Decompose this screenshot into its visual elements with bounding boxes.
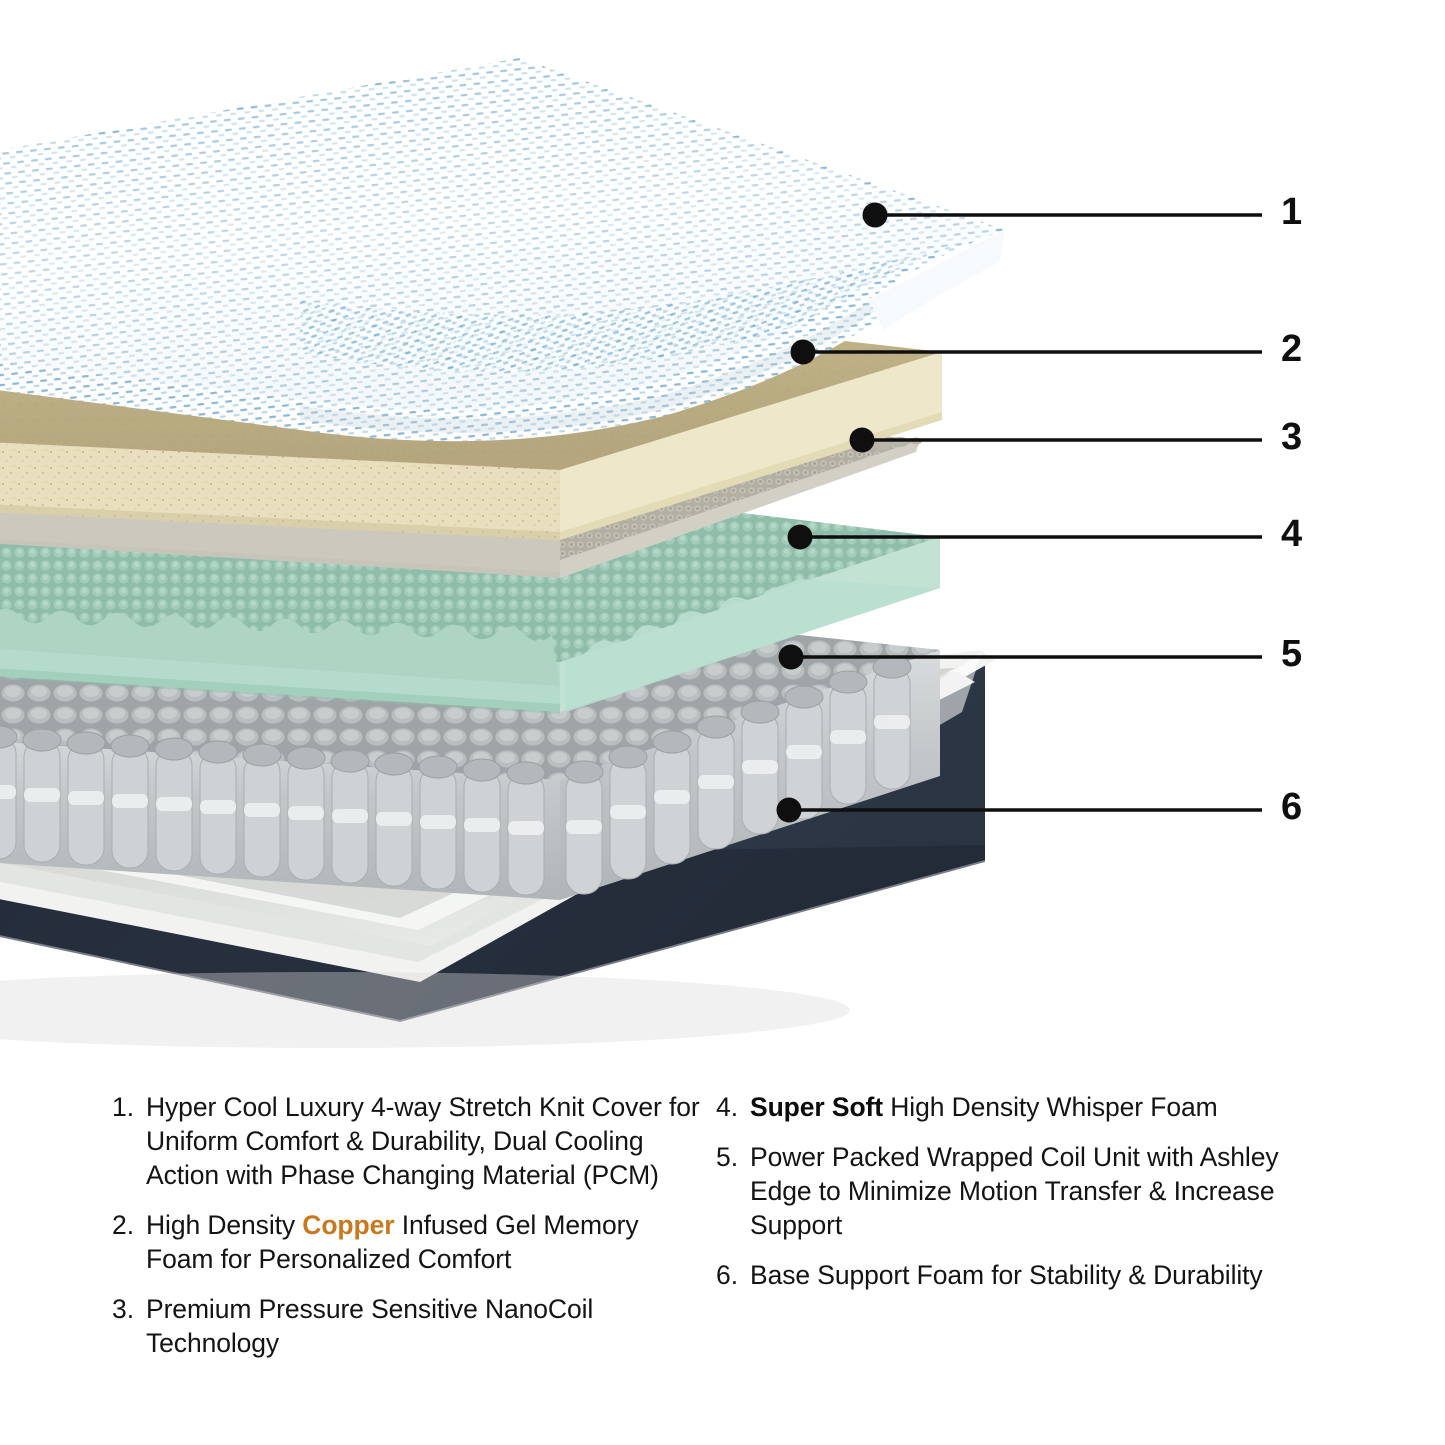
callout-number-3: 3 — [1281, 418, 1302, 456]
legend-text-5: Power Packed Wrapped Coil Unit with Ashl… — [750, 1140, 1336, 1242]
legend-text-5-segment-0: Power Packed Wrapped Coil Unit with Ashl… — [750, 1142, 1279, 1240]
legend-number-4: 4. — [716, 1090, 750, 1124]
legend-text-6: Base Support Foam for Stability & Durabi… — [750, 1258, 1336, 1292]
callout-number-6: 6 — [1281, 788, 1302, 826]
legend-text-1-segment-0: Hyper Cool Luxury 4-way Stretch Knit Cov… — [146, 1092, 700, 1190]
legend-text-4: Super Soft High Density Whisper Foam — [750, 1090, 1336, 1124]
legend-item-4: 4. Super Soft High Density Whisper Foam — [716, 1090, 1336, 1124]
legend-number-2: 2. — [112, 1208, 146, 1242]
legend-text-4-bold-emphasis: Super Soft — [750, 1092, 883, 1122]
mattress-layer-diagram: 1 2 3 4 5 6 1. Hyper Cool Luxury 4-way S… — [0, 0, 1445, 1445]
callout-number-5: 5 — [1281, 635, 1302, 673]
legend-item-2: 2. High Density Copper Infused Gel Memor… — [112, 1208, 712, 1276]
legend-number-3: 3. — [112, 1292, 146, 1326]
legend-item-6: 6. Base Support Foam for Stability & Dur… — [716, 1258, 1336, 1292]
legend-number-5: 5. — [716, 1140, 750, 1174]
legend-text-2-segment-0: High Density — [146, 1210, 302, 1240]
legend-number-1: 1. — [112, 1090, 146, 1124]
legend-column-right: 4. Super Soft High Density Whisper Foam … — [716, 1090, 1336, 1308]
legend-text-1: Hyper Cool Luxury 4-way Stretch Knit Cov… — [146, 1090, 712, 1192]
legend-number-6: 6. — [716, 1258, 750, 1292]
legend-text-4-segment-1: High Density Whisper Foam — [883, 1092, 1218, 1122]
legend-text-2-copper-emphasis: Copper — [302, 1210, 394, 1240]
legend-text-2: High Density Copper Infused Gel Memory F… — [146, 1208, 712, 1276]
legend-text-3: Premium Pressure Sensitive NanoCoil Tech… — [146, 1292, 712, 1360]
legend-item-5: 5. Power Packed Wrapped Coil Unit with A… — [716, 1140, 1336, 1242]
legend-item-1: 1. Hyper Cool Luxury 4-way Stretch Knit … — [112, 1090, 712, 1192]
callout-number-1: 1 — [1281, 193, 1302, 231]
callout-number-2: 2 — [1281, 330, 1302, 368]
legend: 1. Hyper Cool Luxury 4-way Stretch Knit … — [0, 1090, 1445, 1445]
legend-text-3-segment-0: Premium Pressure Sensitive NanoCoil Tech… — [146, 1294, 593, 1358]
callout-number-4: 4 — [1281, 515, 1302, 553]
mattress-illustration — [0, 0, 1445, 1065]
legend-item-3: 3. Premium Pressure Sensitive NanoCoil T… — [112, 1292, 712, 1360]
legend-column-left: 1. Hyper Cool Luxury 4-way Stretch Knit … — [112, 1090, 712, 1376]
legend-text-6-segment-0: Base Support Foam for Stability & Durabi… — [750, 1260, 1263, 1290]
